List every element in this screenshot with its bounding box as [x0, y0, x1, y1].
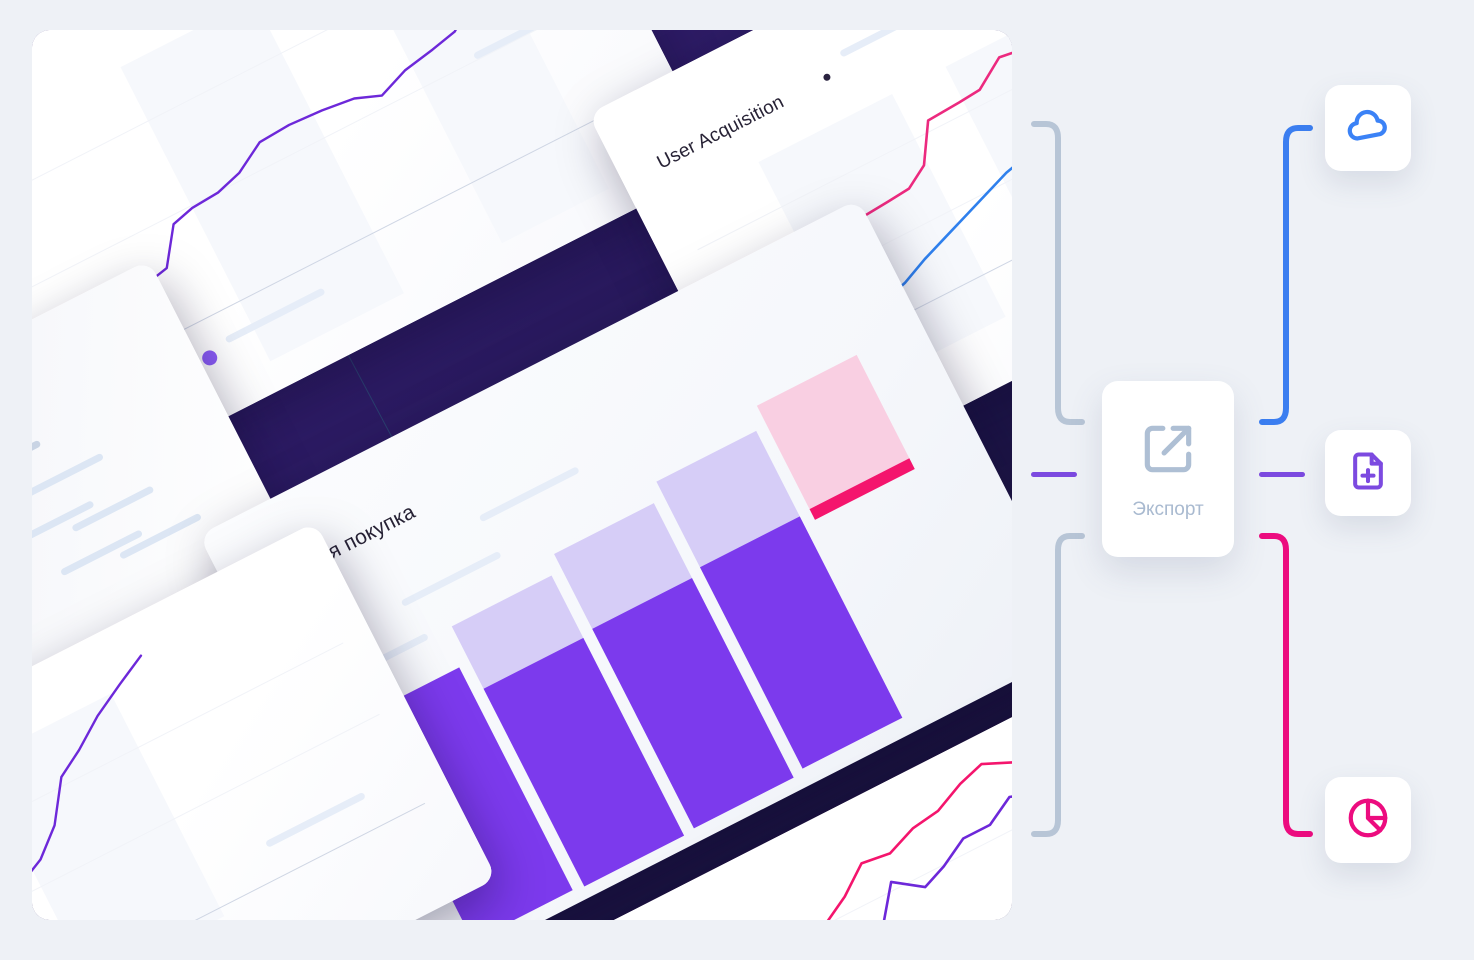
connector-left-top	[1034, 124, 1082, 422]
connector-dash-left	[1031, 472, 1077, 477]
export-target-file[interactable]	[1325, 430, 1411, 516]
connector-left-bottom	[1034, 536, 1082, 834]
analytics-illustration-panel: ue User Acquisition	[32, 30, 1012, 920]
external-link-icon	[1137, 418, 1199, 485]
connector-right-bottom	[1262, 536, 1310, 834]
connector-dash-right	[1259, 472, 1305, 477]
placeholder-line	[401, 551, 502, 607]
export-target-cloud[interactable]	[1325, 85, 1411, 171]
placeholder-line	[479, 466, 580, 522]
pie-chart-icon	[1345, 795, 1391, 846]
screenshot-canvas: ue User Acquisition	[0, 0, 1474, 950]
placeholder-line	[32, 440, 41, 487]
export-target-pie[interactable]	[1325, 777, 1411, 863]
cloud-icon	[1345, 103, 1391, 154]
file-plus-icon	[1346, 449, 1390, 498]
placeholder-line	[32, 453, 104, 500]
export-card[interactable]: Экспорт	[1102, 381, 1234, 557]
export-label: Экспорт	[1132, 499, 1203, 521]
connector-right-top	[1262, 128, 1310, 422]
